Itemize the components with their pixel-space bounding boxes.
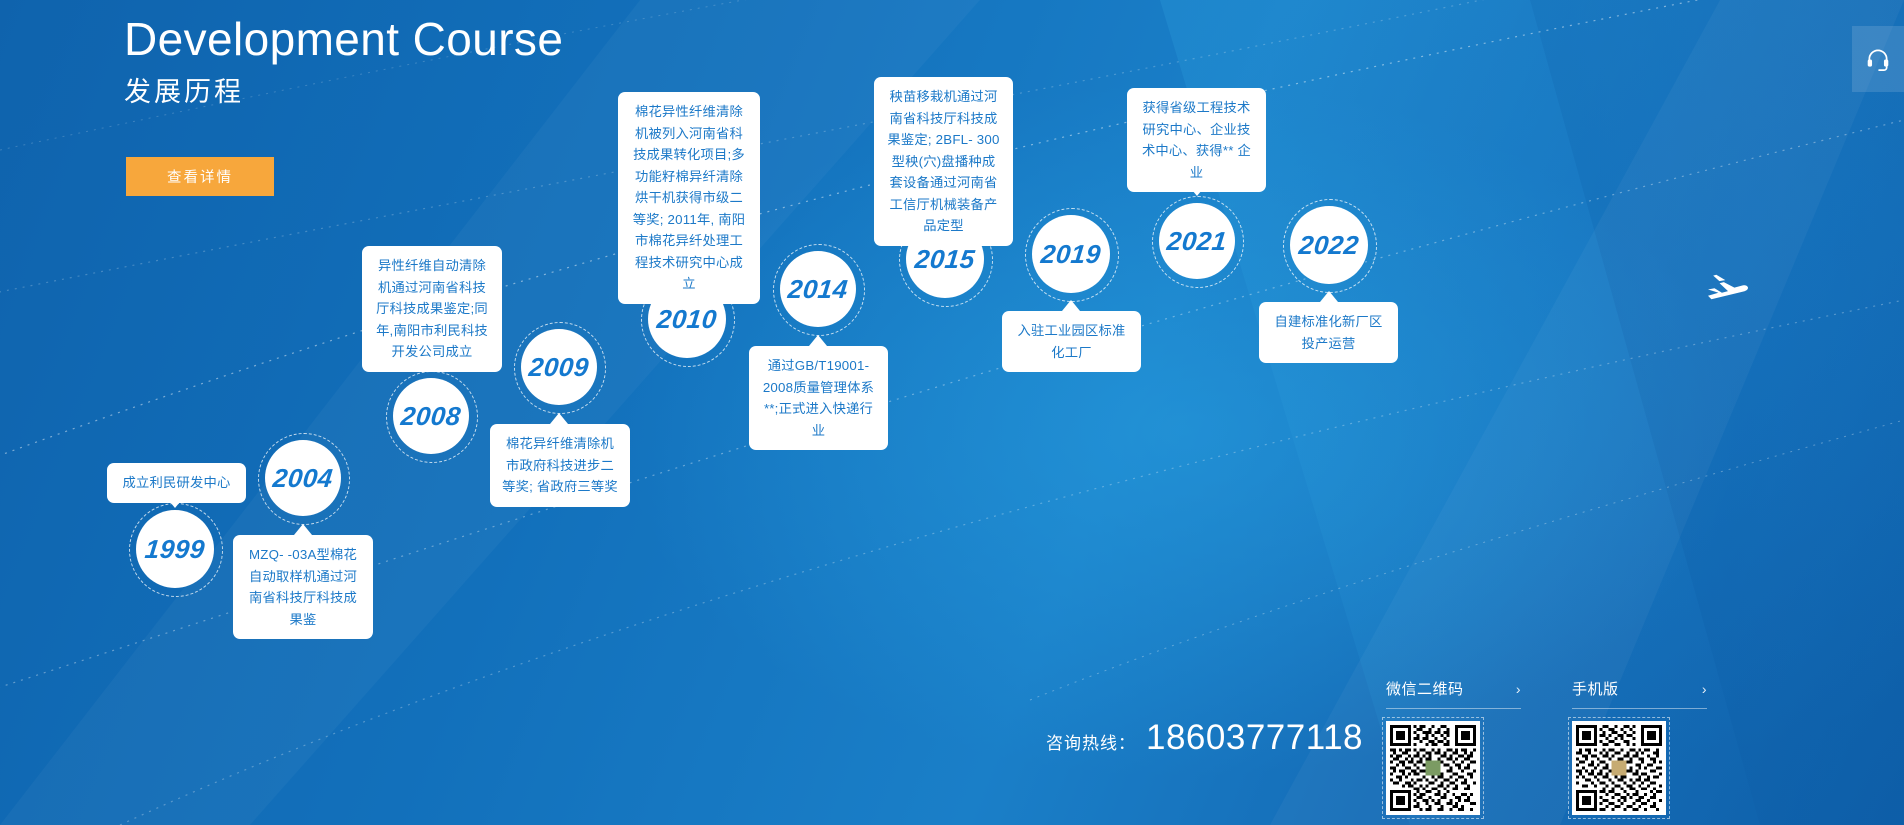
hotline-number: 18603777118 [1146,718,1363,758]
year-circle: 2004 [265,440,341,516]
development-course-page: Development Course 发展历程 查看详情 1999 成立利民研发… [0,0,1904,825]
year-circle: 2009 [521,329,597,405]
year-circle: 2019 [1032,215,1110,293]
qr-header[interactable]: 微信二维码 › [1386,678,1521,709]
card-tail [294,524,312,535]
headset-service-icon [1865,46,1891,72]
card-tail [550,413,568,424]
view-details-button[interactable]: 查看详情 [126,157,274,196]
timeline-card: MZQ- -03A型棉花自动取样机通过河南省科技厅科技成果鉴 [233,535,373,639]
hotline-label: 咨询热线： [1046,729,1136,754]
timeline-card: 成立利民研发中心 [107,463,246,503]
year-circle: 2022 [1290,206,1368,284]
card-tail [1320,291,1338,302]
page-title-en: Development Course [124,14,563,66]
timeline-card: 棉花异性纤维清除机被列入河南省科技成果转化项目;多功能籽棉异纤清除烘干机获得市级… [618,92,760,304]
year-circle: 2021 [1159,203,1235,279]
card-tail [1062,300,1080,311]
qr-block-mobile[interactable]: 手机版 › [1572,678,1707,815]
year-circle: 2014 [780,251,856,327]
timeline-card: 自建标准化新厂区投产运营 [1259,302,1398,363]
year-circle: 1999 [136,510,214,588]
qr-block-wechat[interactable]: 微信二维码 › [1386,678,1521,815]
year-circle: 2008 [393,378,469,454]
chevron-right-icon: › [1516,681,1521,697]
timeline-card: 通过GB/T19001-2008质量管理体系**;正式进入快递行业 [749,346,888,450]
card-tail [809,335,827,346]
hotline: 咨询热线： 18603777118 [1046,718,1363,758]
page-header: Development Course 发展历程 [124,14,563,108]
timeline-card: 棉花异纤维清除机市政府科技进步二等奖; 省政府三等奖 [490,424,630,507]
qr-code-mobile [1572,721,1666,815]
timeline-card: 入驻工业园区标准化工厂 [1002,311,1141,372]
qr-header[interactable]: 手机版 › [1572,678,1707,709]
qr-label: 手机版 [1572,678,1619,699]
chevron-right-icon: › [1702,681,1707,697]
customer-service-widget[interactable] [1852,26,1904,92]
airplane-icon [1707,272,1751,308]
qr-label: 微信二维码 [1386,678,1464,699]
timeline-card: 异性纤维自动清除机通过河南省科技厅科技成果鉴定;同年,南阳市利民科技开发公司成立 [362,246,502,372]
qr-code-wechat [1386,721,1480,815]
timeline-card: 获得省级工程技术研究中心、企业技术中心、获得** 企业 [1127,88,1266,192]
page-title-cn: 发展历程 [124,76,563,108]
timeline-card: 秧苗移栽机通过河南省科技厅科技成果鉴定; 2BFL- 300型秧(穴)盘播种成套… [874,77,1013,246]
